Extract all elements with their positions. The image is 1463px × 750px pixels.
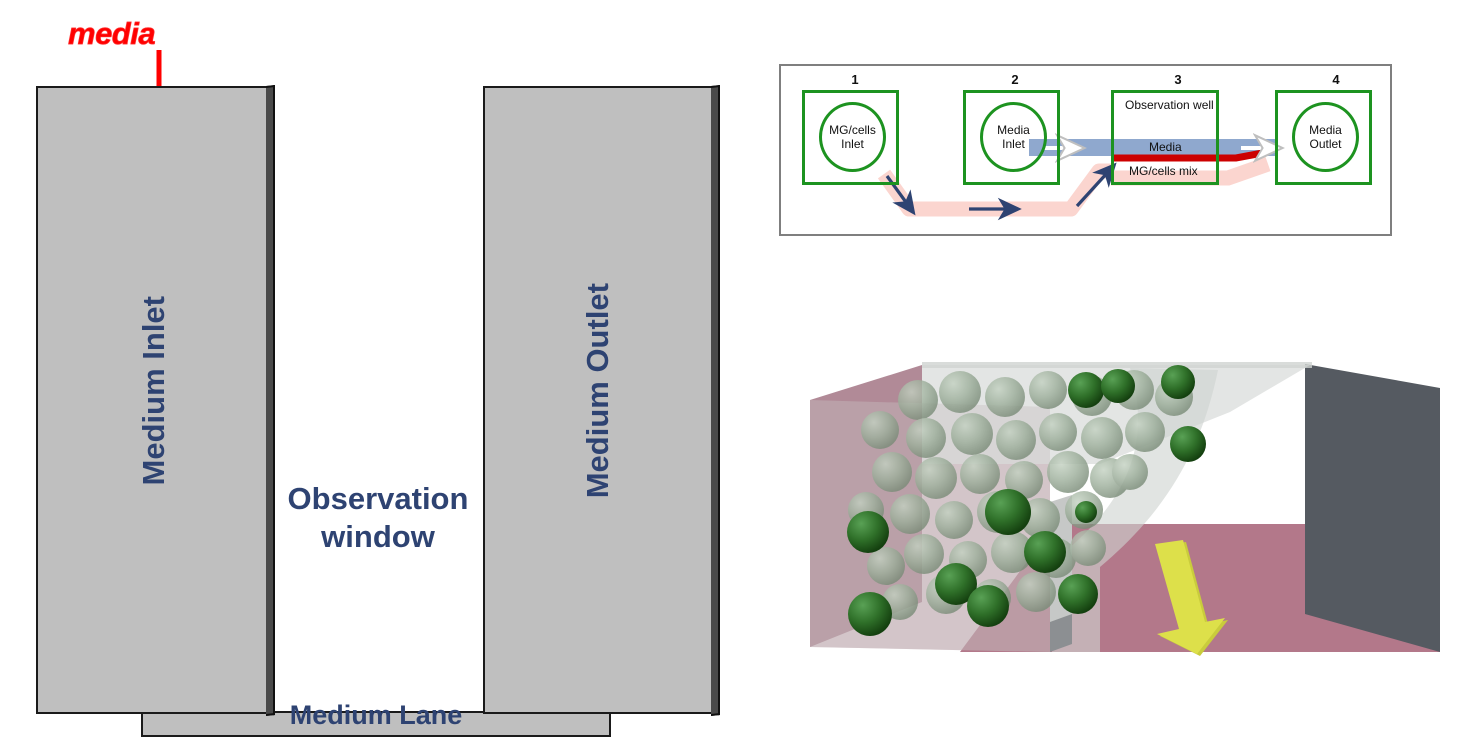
figure-canvas: media Medium Inlet Medium Outlet Observa…: [0, 0, 1463, 750]
medium-lane-label: Medium Lane: [141, 700, 611, 731]
step-2-line-2: Inlet: [1002, 137, 1025, 151]
mg-cells-mix-label: MG/cells mix: [1129, 164, 1198, 178]
observation-window-label: Observation window: [270, 480, 486, 556]
3d-chamber-graphic: [800, 352, 1445, 672]
step-1-circle-label: MG/cells Inlet: [819, 102, 886, 172]
3d-chamber-render: [800, 352, 1445, 672]
step-number-3: 3: [1163, 72, 1193, 87]
step-number-4: 4: [1321, 72, 1351, 87]
medium-outlet-label: Medium Outlet: [580, 283, 616, 498]
media-inflow-label: media: [68, 16, 155, 52]
media-band-label: Media: [1149, 140, 1182, 154]
step-4-circle-label: Media Outlet: [1292, 102, 1359, 172]
step-1-line-1: MG/cells: [829, 123, 876, 137]
step-number-1: 1: [840, 72, 870, 87]
medium-inlet-label: Medium Inlet: [136, 296, 172, 485]
step-2-circle-label: Media Inlet: [980, 102, 1047, 172]
step-2-line-1: Media: [997, 123, 1030, 137]
observation-window-line-1: Observation: [270, 480, 486, 518]
step-4-line-2: Outlet: [1309, 137, 1341, 151]
step-number-2: 2: [1000, 72, 1030, 87]
observation-window-line-2: window: [270, 518, 486, 556]
step-4-line-1: Media: [1309, 123, 1342, 137]
step-1-line-2: Inlet: [841, 137, 864, 151]
observation-well-title: Observation well: [1125, 98, 1214, 112]
top-view-schematic: media Medium Inlet Medium Outlet Observa…: [0, 0, 740, 750]
four-step-flow-panel: 1 2 3 4 MG/cells Inlet Media Inlet Obser…: [779, 64, 1392, 236]
